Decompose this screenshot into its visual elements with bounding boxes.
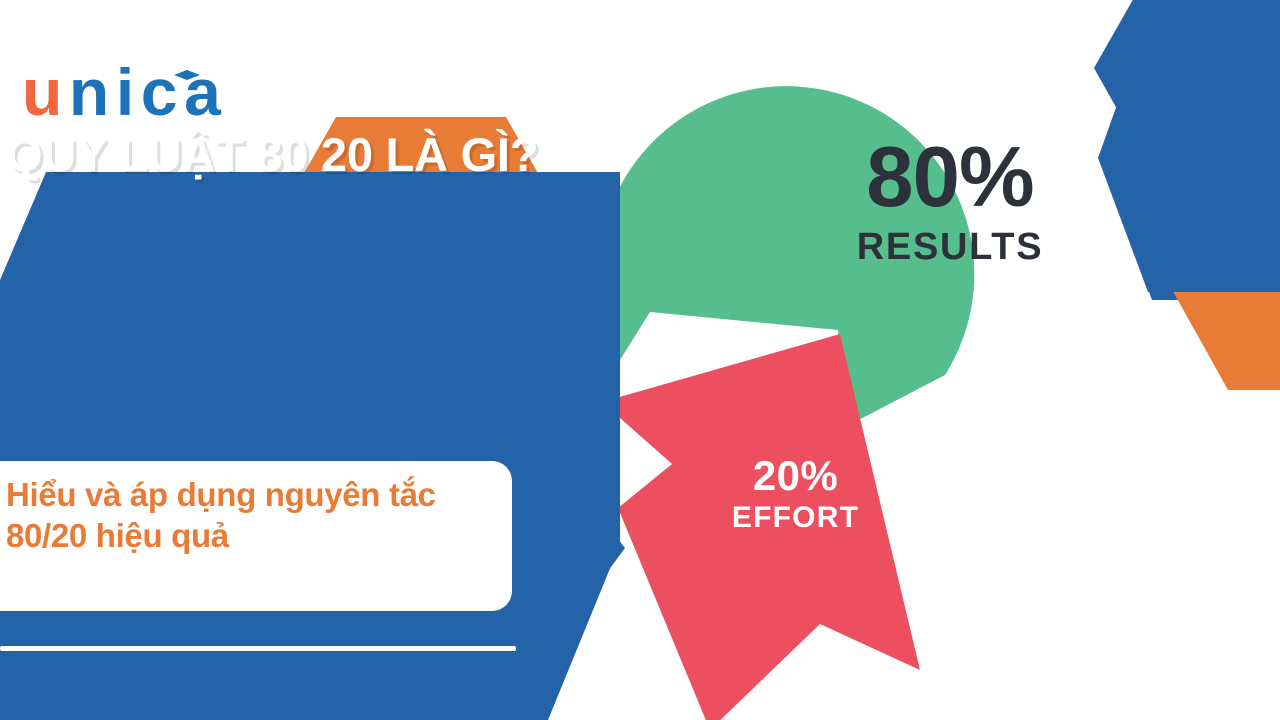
headline-divider bbox=[0, 646, 516, 651]
brand-logo-text: unica bbox=[22, 52, 227, 132]
subtitle-card: Hiểu và áp dụng nguyên tắc 80/20 hiệu qu… bbox=[0, 461, 512, 611]
page-subtitle: Hiểu và áp dụng nguyên tắc 80/20 hiệu qu… bbox=[6, 475, 476, 557]
headline-panel bbox=[0, 172, 620, 720]
brand-logo[interactable]: unica bbox=[22, 52, 312, 132]
headline-panel-shape bbox=[0, 172, 620, 720]
graduation-cap-icon bbox=[174, 70, 200, 82]
pareto-pie-chart bbox=[590, 30, 1280, 720]
brand-logo-rest: nica bbox=[69, 55, 227, 129]
brand-logo-first-letter: u bbox=[22, 55, 69, 129]
poster-canvas: 80% RESULTS 20% EFFORT QUY LUẬT 80 20 LÀ… bbox=[0, 0, 1280, 720]
page-title: QUY LUẬT 80 20 LÀ GÌ? bbox=[6, 130, 566, 181]
